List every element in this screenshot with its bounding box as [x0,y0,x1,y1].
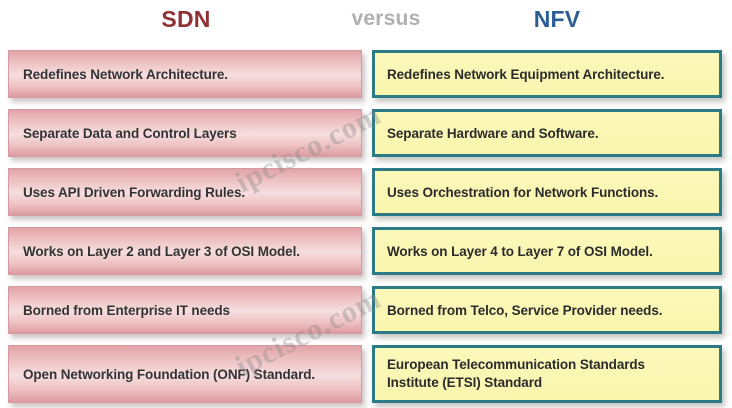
comparison-row: Open Networking Foundation (ONF) Standar… [0,345,732,403]
nfv-feature-box: Uses Orchestration for Network Functions… [372,168,722,216]
sdn-feature-box: Redefines Network Architecture. [8,50,362,98]
sdn-feature-box: Borned from Enterprise IT needs [8,286,362,334]
sdn-feature-box: Separate Data and Control Layers [8,109,362,157]
sdn-feature-box: Open Networking Foundation (ONF) Standar… [8,345,362,403]
nfv-feature-box: European Telecommunication Standards Ins… [372,345,722,403]
comparison-header: SDN versus NFV [0,0,732,46]
nfv-feature-text: Works on Layer 4 to Layer 7 of OSI Model… [387,243,653,260]
nfv-feature-text: Uses Orchestration for Network Functions… [387,184,658,201]
comparison-rows: Redefines Network Architecture. Redefine… [0,46,732,408]
nfv-feature-text: Borned from Telco, Service Provider need… [387,302,662,319]
sdn-feature-text: Works on Layer 2 and Layer 3 of OSI Mode… [23,243,300,260]
header-title-sdn: SDN [96,4,276,34]
comparison-row: Separate Data and Control Layers Separat… [0,109,732,157]
nfv-feature-box: Works on Layer 4 to Layer 7 of OSI Model… [372,227,722,275]
sdn-feature-box: Uses API Driven Forwarding Rules. [8,168,362,216]
comparison-row: Works on Layer 2 and Layer 3 of OSI Mode… [0,227,732,275]
nfv-feature-text: European Telecommunication Standards Ins… [387,356,645,392]
nfv-feature-box: Redefines Network Equipment Architecture… [372,50,722,98]
header-title-versus: versus [300,4,472,34]
nfv-feature-text: Separate Hardware and Software. [387,125,598,142]
sdn-vs-nfv-comparison: SDN versus NFV Redefines Network Archite… [0,0,732,408]
comparison-row: Borned from Enterprise IT needs Borned f… [0,286,732,334]
sdn-feature-text: Borned from Enterprise IT needs [23,302,230,319]
sdn-feature-text: Redefines Network Architecture. [23,66,228,83]
nfv-feature-text: Redefines Network Equipment Architecture… [387,66,664,83]
sdn-feature-text: Open Networking Foundation (ONF) Standar… [23,366,315,383]
nfv-feature-box: Separate Hardware and Software. [372,109,722,157]
nfv-feature-box: Borned from Telco, Service Provider need… [372,286,722,334]
sdn-feature-text: Separate Data and Control Layers [23,125,237,142]
sdn-feature-box: Works on Layer 2 and Layer 3 of OSI Mode… [8,227,362,275]
sdn-feature-text: Uses API Driven Forwarding Rules. [23,184,245,201]
comparison-row: Redefines Network Architecture. Redefine… [0,50,732,98]
comparison-row: Uses API Driven Forwarding Rules. Uses O… [0,168,732,216]
header-title-nfv: NFV [462,4,652,34]
